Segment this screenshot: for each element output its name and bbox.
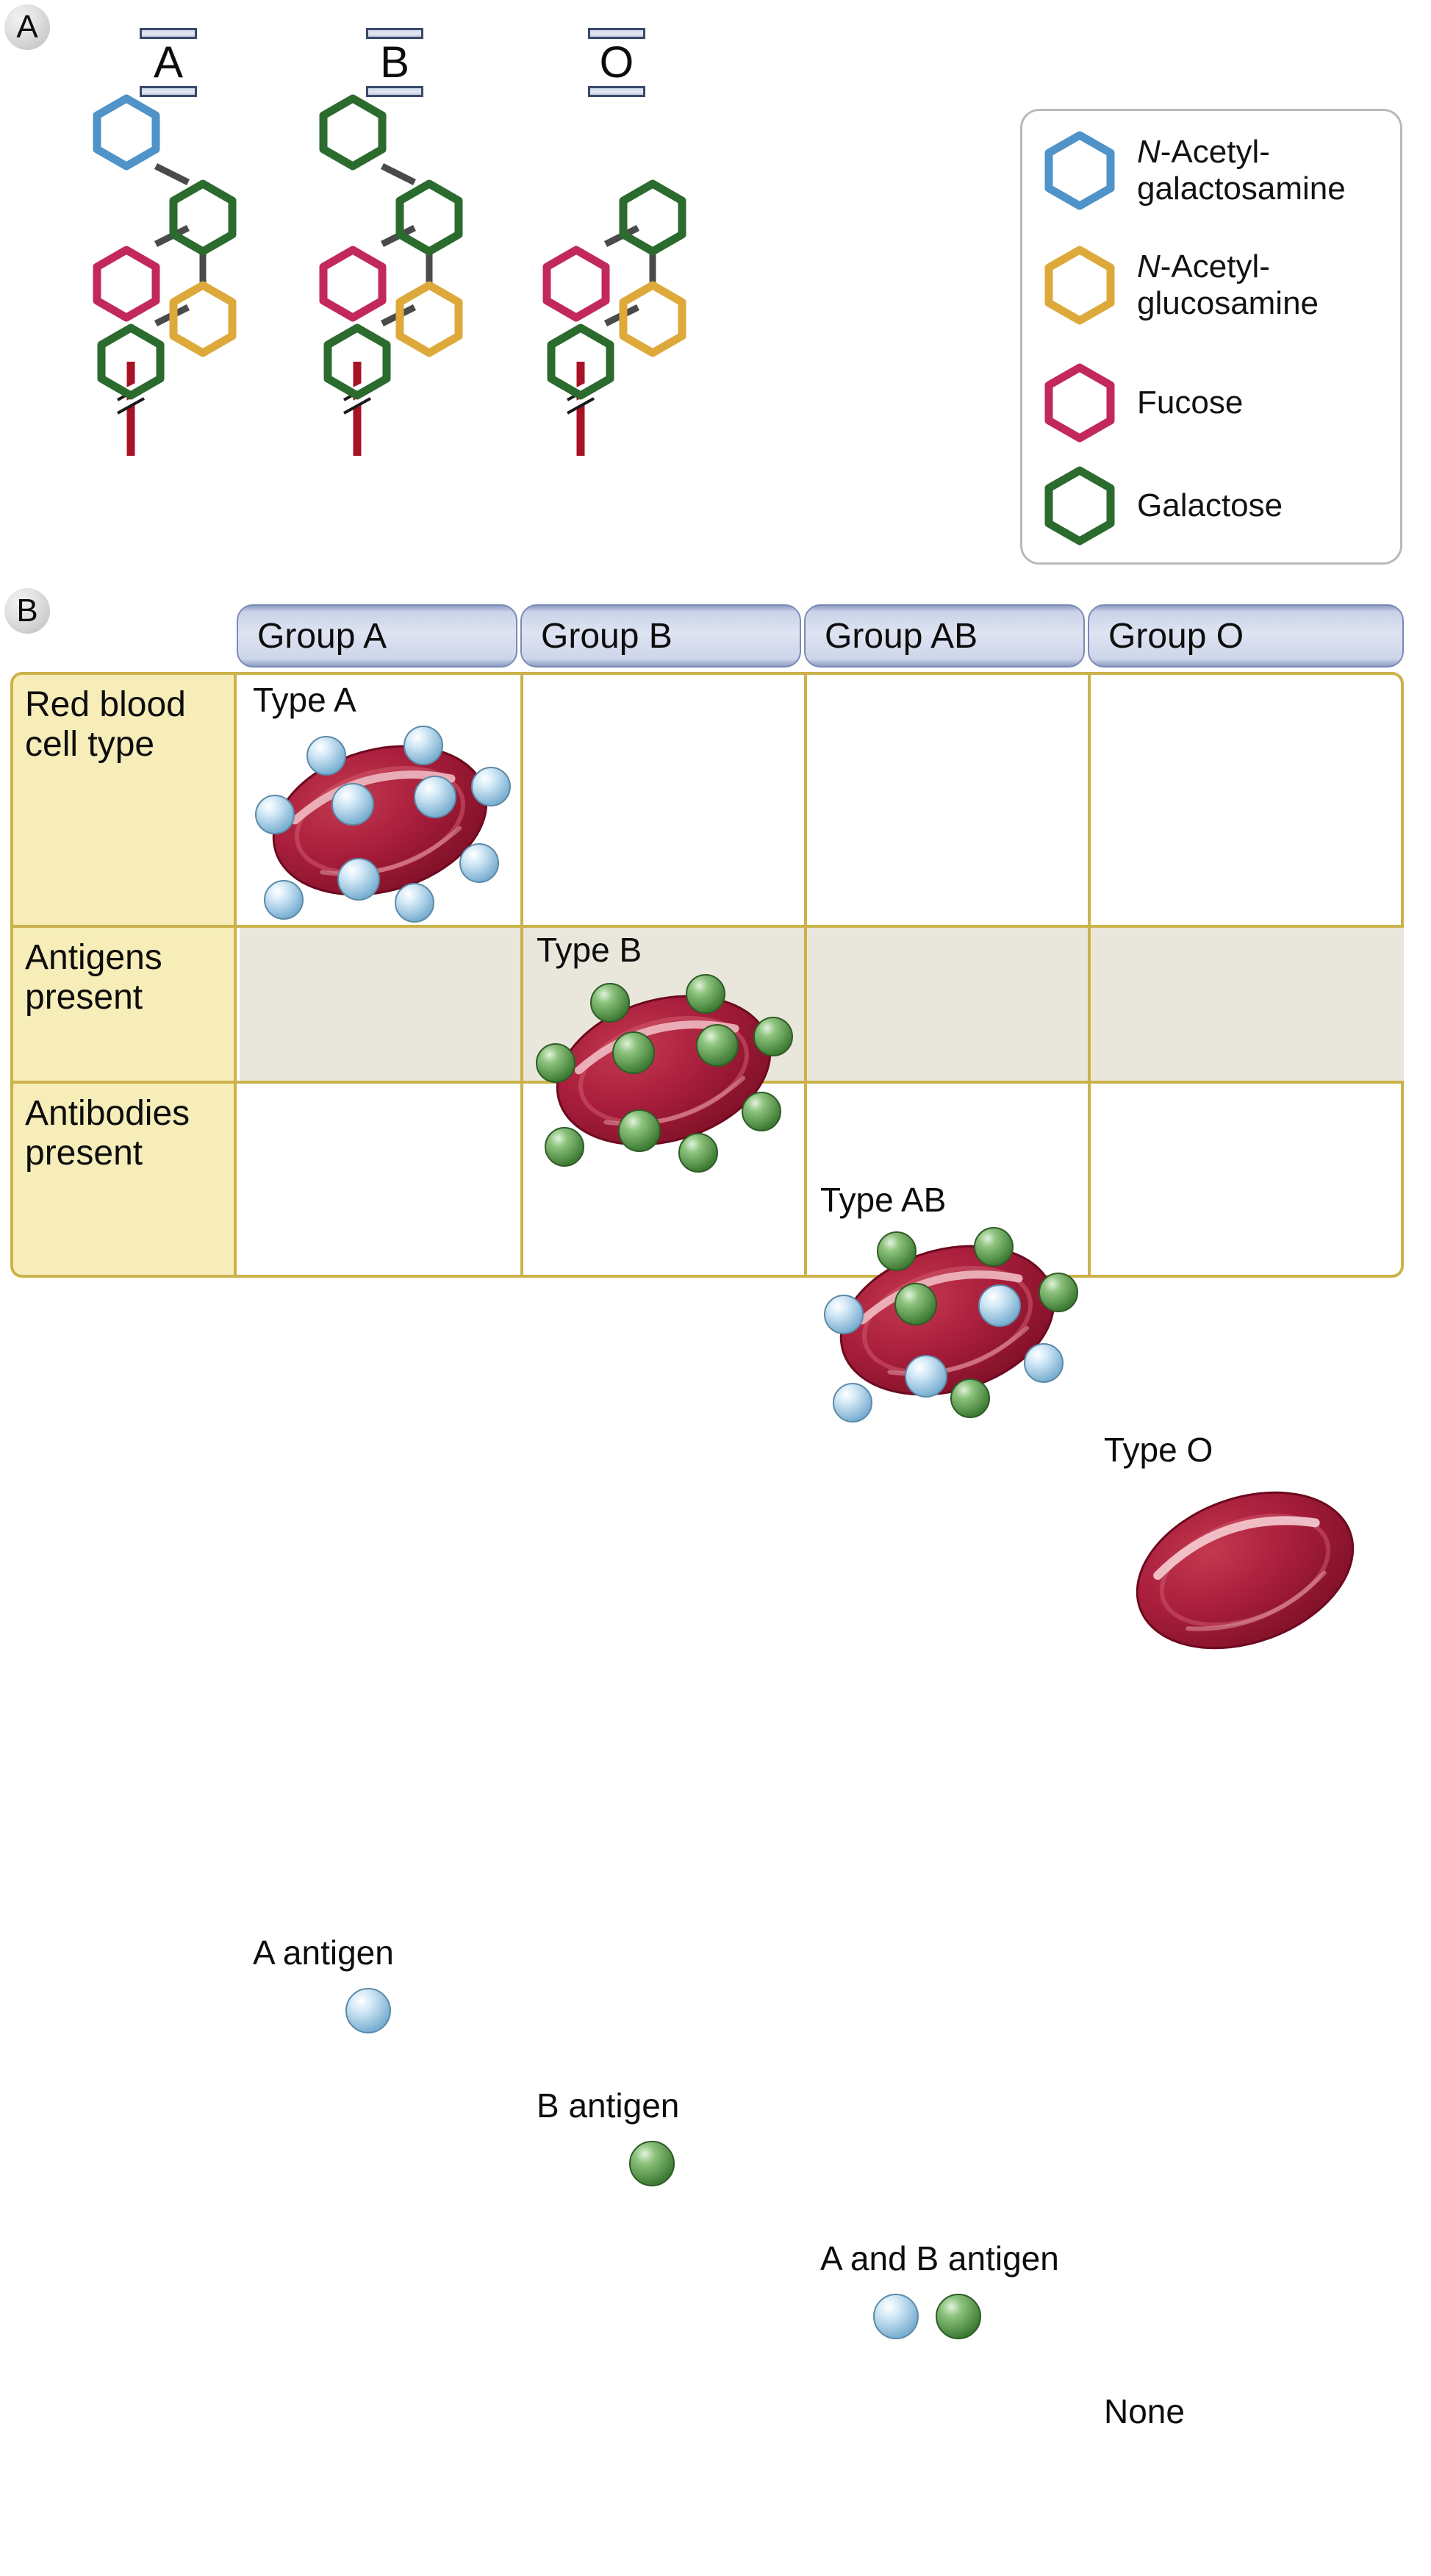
column-header-label: Group A (257, 616, 387, 656)
cell-antigens-group-o: None (1091, 2386, 1404, 2539)
legend-label: Galactose (1137, 487, 1283, 524)
row-label-text: Antibodies present (25, 1094, 190, 1173)
n-acetyl-glucosamine-icon (1041, 242, 1118, 329)
galactose-icon (1041, 462, 1118, 549)
legend-label-italic: N (1137, 248, 1161, 285)
structure-label-a: A (140, 39, 197, 86)
legend-label-rest: Fucose (1137, 384, 1243, 421)
cell-antigens-group-a: A antigen (240, 1928, 520, 2081)
column-header-label: Group B (541, 616, 673, 656)
cell-antigens-group-b: B antigen (523, 2081, 804, 2233)
cell-rbc-group-b: Type B (523, 925, 804, 1175)
legend-label-italic: N (1137, 134, 1161, 170)
structure-bracket-o: O (588, 28, 645, 97)
n-acetyl-galactosamine-icon (1041, 127, 1118, 214)
row-label-antibodies-present: Antibodies present (13, 1081, 237, 1275)
rbc-illustration-b (523, 960, 804, 1173)
legend-label-rest: -Acetyl- glucosamine (1137, 248, 1319, 321)
column-header-label: Group O (1108, 616, 1244, 656)
structure-label-b: B (366, 39, 423, 86)
sugar-legend: N-Acetyl- galactosamine N-Acetyl- glucos… (1020, 109, 1402, 565)
fucose-icon (1041, 359, 1118, 446)
antigen-a-swatch-icon (342, 1985, 394, 2036)
row-label-text: Antigens present (25, 938, 162, 1017)
legend-label-rest: -Acetyl- galactosamine (1137, 134, 1346, 207)
row-label-text: Red blood cell type (25, 685, 186, 765)
legend-item-n-acetyl-glucosamine: N-Acetyl- glucosamine (1041, 242, 1319, 329)
column-header-label: Group AB (825, 616, 978, 656)
panel-a-letter: A (16, 11, 37, 43)
column-header-group-b: Group B (520, 604, 801, 668)
legend-label-rest: Galactose (1137, 487, 1283, 523)
row-divider-2 (237, 1081, 1404, 1084)
legend-item-galactose: Galactose (1041, 462, 1283, 549)
legend-label: Fucose (1137, 384, 1243, 421)
structure-a (97, 99, 232, 456)
antigen-ab-swatch-icons (870, 2291, 995, 2342)
column-header-group-a: Group A (237, 604, 517, 668)
glycan-structures (0, 88, 823, 471)
row-label-antigens-present: Antigens present (13, 925, 237, 1081)
cell-rbc-group-ab: Type AB (807, 1175, 1088, 1425)
antigen-b-swatch-icon (626, 2138, 678, 2189)
cell-rbc-group-o: Type O (1091, 1425, 1404, 1675)
panel-a-badge: A (4, 4, 50, 50)
legend-label: N-Acetyl- glucosamine (1137, 248, 1319, 322)
rbc-illustration-a (240, 710, 520, 923)
row-label-red-blood-cell-type: Red blood cell type (13, 675, 237, 925)
legend-item-fucose: Fucose (1041, 359, 1243, 446)
column-header-group-ab: Group AB (804, 604, 1085, 668)
antigens-label-a: A antigen (253, 1933, 394, 1972)
structure-bracket-a: A (140, 28, 197, 97)
cell-antigens-group-ab: A and B antigen (807, 2233, 1088, 2386)
rbc-illustration-o (1098, 1463, 1392, 1670)
column-divider-3 (1088, 675, 1091, 1275)
antigens-label-ab: A and B antigen (820, 2239, 1059, 2278)
antigen-row-band (240, 928, 1404, 1081)
structure-label-o: O (588, 39, 645, 86)
legend-item-n-acetyl-galactosamine: N-Acetyl- galactosamine (1041, 127, 1346, 214)
structure-o (547, 184, 682, 456)
panel-b-badge: B (4, 588, 50, 634)
structure-b (323, 99, 459, 456)
antigens-label-o: None (1104, 2392, 1185, 2430)
antigens-label-b: B antigen (537, 2086, 679, 2125)
legend-label: N-Acetyl- galactosamine (1137, 134, 1346, 207)
column-header-group-o: Group O (1088, 604, 1404, 668)
cell-rbc-group-a: Type A (240, 675, 520, 925)
rbc-illustration-ab (807, 1210, 1088, 1423)
panel-b-letter: B (16, 595, 37, 627)
structure-bracket-b: B (366, 28, 423, 97)
